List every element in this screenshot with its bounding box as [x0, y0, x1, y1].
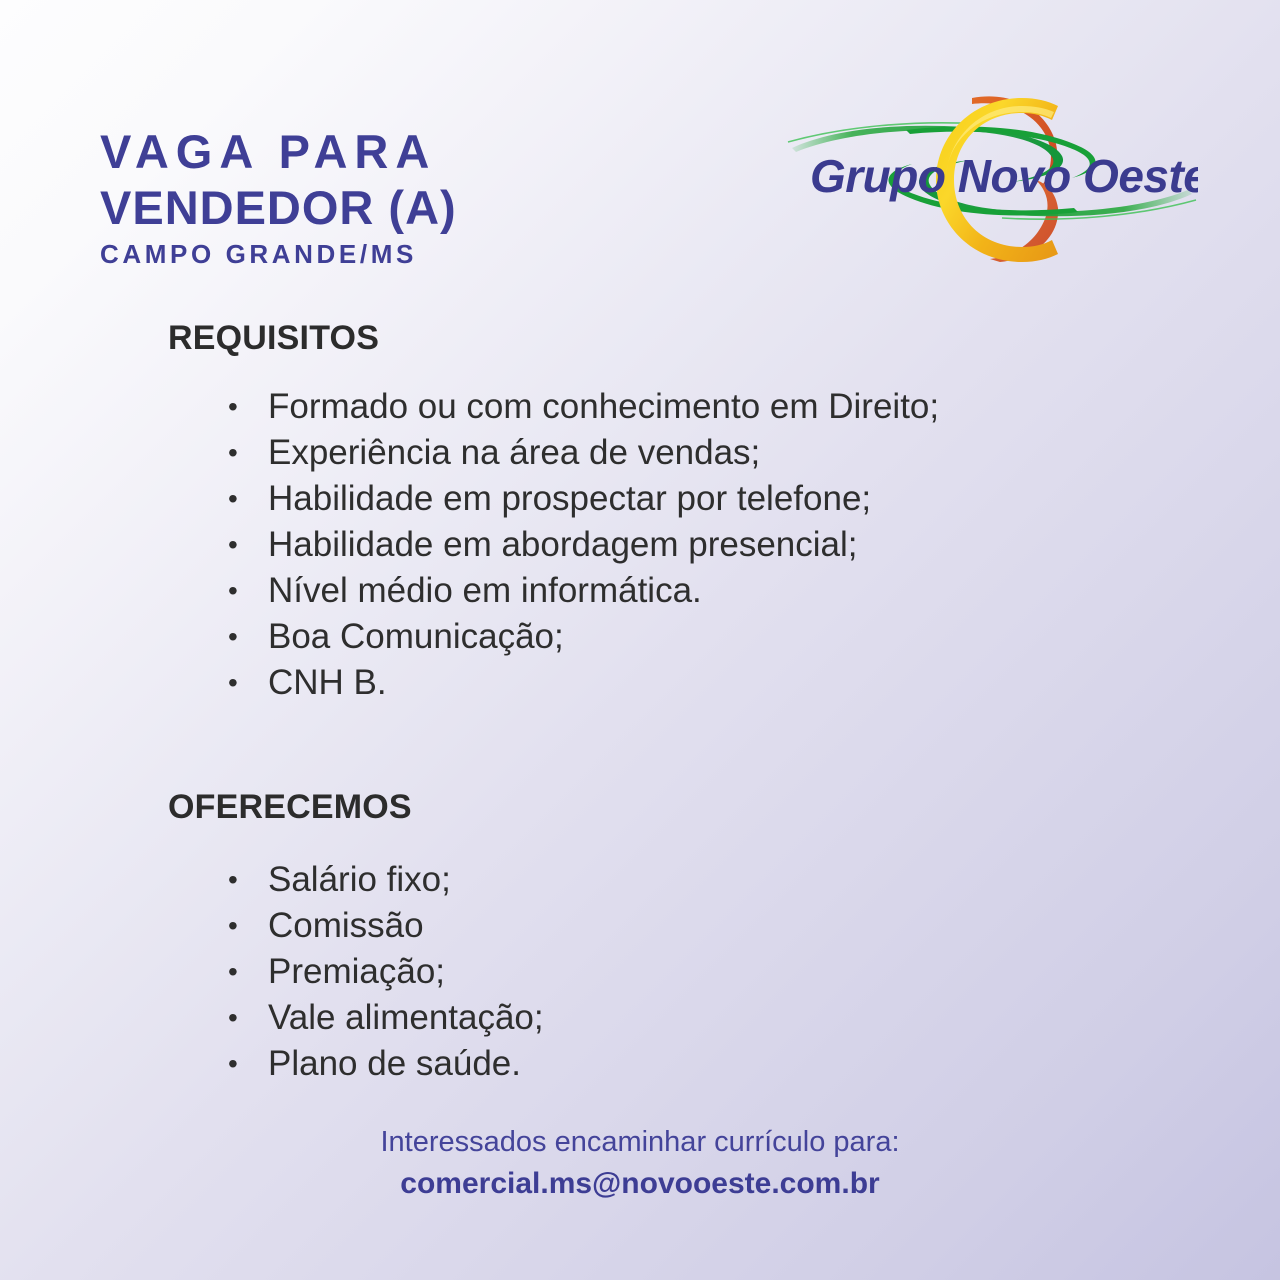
page-title-line-2: VENDEDOR (A)	[100, 180, 457, 236]
page-subtitle-location: CAMPO GRANDE/MS	[100, 238, 457, 270]
list-item: • Premiação;	[222, 949, 544, 995]
poster-header: VAGA PARA VENDEDOR (A) CAMPO GRANDE/MS	[0, 0, 1280, 290]
list-item: • Salário fixo;	[222, 857, 544, 903]
list-item-label: Boa Comunicação;	[268, 617, 564, 656]
requirements-list: • Formado ou com conhecimento em Direito…	[222, 384, 939, 706]
list-item: • Habilidade em prospectar por telefone;	[222, 476, 939, 522]
bullet-icon: •	[228, 903, 238, 949]
job-posting-poster: VAGA PARA VENDEDOR (A) CAMPO GRANDE/MS	[0, 0, 1280, 1280]
requirements-heading: REQUISITOS	[168, 318, 379, 358]
list-item-label: Nível médio em informática.	[268, 571, 702, 610]
list-item: • Plano de saúde.	[222, 1041, 544, 1087]
bullet-icon: •	[228, 1041, 238, 1087]
title-block: VAGA PARA VENDEDOR (A) CAMPO GRANDE/MS	[100, 124, 457, 270]
list-item: • Comissão	[222, 903, 544, 949]
list-item-label: Habilidade em prospectar por telefone;	[268, 479, 871, 518]
logo-wordmark: Grupo Novo Oeste	[810, 150, 1198, 202]
offers-list: • Salário fixo; • Comissão • Premiação; …	[222, 857, 544, 1087]
offers-heading: OFERECEMOS	[168, 787, 412, 827]
list-item: • Habilidade em abordagem presencial;	[222, 522, 939, 568]
bullet-icon: •	[228, 995, 238, 1041]
list-item: • Formado ou com conhecimento em Direito…	[222, 384, 939, 430]
contact-call-to-action: Interessados encaminhar currículo para:	[0, 1122, 1280, 1162]
bullet-icon: •	[228, 522, 238, 568]
bullet-icon: •	[228, 660, 238, 706]
list-item: • Vale alimentação;	[222, 995, 544, 1041]
list-item: • Nível médio em informática.	[222, 568, 939, 614]
list-item: • Experiência na área de vendas;	[222, 430, 939, 476]
bullet-icon: •	[228, 614, 238, 660]
bullet-icon: •	[228, 384, 238, 430]
list-item-label: Plano de saúde.	[268, 1044, 521, 1083]
list-item-label: Comissão	[268, 906, 424, 945]
list-item-label: Salário fixo;	[268, 860, 451, 899]
list-item: • CNH B.	[222, 660, 939, 706]
contact-email[interactable]: comercial.ms@novooeste.com.br	[0, 1164, 1280, 1204]
list-item-label: Premiação;	[268, 952, 445, 991]
company-logo-graphic: Grupo Novo Oeste	[786, 82, 1198, 278]
list-item-label: Habilidade em abordagem presencial;	[268, 525, 858, 564]
bullet-icon: •	[228, 568, 238, 614]
list-item-label: Vale alimentação;	[268, 998, 544, 1037]
bullet-icon: •	[228, 430, 238, 476]
list-item-label: Formado ou com conhecimento em Direito;	[268, 387, 939, 426]
bullet-icon: •	[228, 949, 238, 995]
list-item-label: CNH B.	[268, 663, 387, 702]
contact-footer: Interessados encaminhar currículo para: …	[0, 1122, 1280, 1204]
bullet-icon: •	[228, 476, 238, 522]
company-logo: Grupo Novo Oeste	[786, 82, 1198, 278]
list-item-label: Experiência na área de vendas;	[268, 433, 760, 472]
list-item: • Boa Comunicação;	[222, 614, 939, 660]
page-title-line-1: VAGA PARA	[100, 124, 457, 180]
bullet-icon: •	[228, 857, 238, 903]
